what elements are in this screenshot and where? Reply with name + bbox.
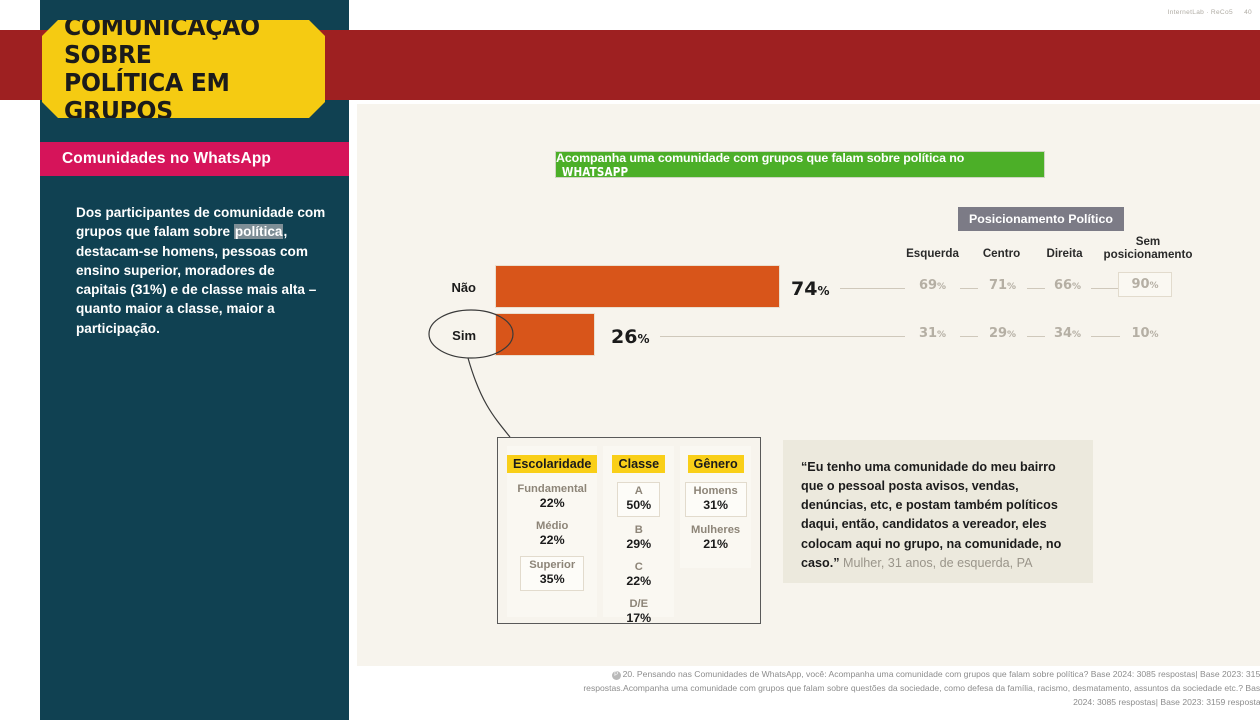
breakdown-nao-sem-posicionamento-value: 90 bbox=[1131, 277, 1149, 292]
demographics-item-classe-a-value: 50% bbox=[626, 498, 651, 514]
demographics-item-classe-c-value: 22% bbox=[626, 574, 651, 590]
sidebar-paragraph-before: Dos participantes de comunidade com grup… bbox=[76, 205, 325, 239]
bar-value-sim-number: 26 bbox=[611, 326, 637, 348]
connector-dash-nao-1 bbox=[840, 288, 905, 289]
breakdown-sim-direita: 34% bbox=[1040, 326, 1095, 341]
column-label-sem-posicionamento: Sem posicionamento bbox=[1094, 235, 1202, 262]
footnote-text: 20. Pensando nas Comunidades de WhatsApp… bbox=[583, 669, 1260, 707]
chart-title-emphasis: WHATSAPP bbox=[562, 165, 628, 179]
demographics-item-mulheres-name: Mulheres bbox=[691, 524, 740, 537]
demographics-item-medio: Médio 22% bbox=[530, 519, 574, 550]
demographics-item-medio-name: Médio bbox=[536, 520, 568, 533]
breakdown-nao-esquerda-value: 69 bbox=[919, 278, 937, 293]
page-title-line-1: COMUNICAÇÃO SOBRE bbox=[64, 13, 309, 69]
breakdown-sim-sem-posicionamento-unit: % bbox=[1150, 330, 1159, 340]
political-positioning-header: Posicionamento Político bbox=[958, 207, 1124, 231]
chart-title-main: Acompanha uma comunidade com grupos que … bbox=[556, 151, 964, 165]
demographics-item-medio-value: 22% bbox=[536, 533, 568, 549]
breakdown-sim-esquerda-value: 31 bbox=[919, 326, 937, 341]
political-positioning-label: Posicionamento Político bbox=[969, 212, 1113, 226]
connector-dash-nao-4 bbox=[1091, 288, 1120, 289]
demographics-item-classe-b: B 29% bbox=[620, 523, 657, 554]
page-header: InternetLab · ReCo5 40 bbox=[1167, 9, 1252, 16]
bar-value-sim: 26% bbox=[611, 326, 649, 348]
bar-value-nao-unit: % bbox=[817, 284, 829, 298]
page-title-line-2: POLÍTICA EM GRUPOS bbox=[64, 69, 309, 125]
demographics-title-classe: Classe bbox=[612, 455, 665, 473]
slide-title-flag: COMUNICAÇÃO SOBRE POLÍTICA EM GRUPOS bbox=[42, 20, 325, 118]
demographics-item-classe-de: D/E 17% bbox=[620, 597, 657, 628]
bar-label-sim: Sim bbox=[398, 328, 476, 343]
footnote: P20. Pensando nas Comunidades de WhatsAp… bbox=[565, 668, 1260, 710]
quote-paragraph: “Eu tenho uma comunidade do meu bairro q… bbox=[801, 458, 1073, 573]
connector-dash-sim-1 bbox=[660, 336, 905, 337]
bar-value-sim-unit: % bbox=[637, 332, 649, 346]
breakdown-nao-sem-posicionamento: 90% bbox=[1118, 272, 1172, 297]
breakdown-nao-centro-value: 71 bbox=[989, 278, 1007, 293]
quote-text: “Eu tenho uma comunidade do meu bairro q… bbox=[801, 460, 1061, 570]
page-source-label: InternetLab · ReCo5 bbox=[1167, 9, 1232, 16]
breakdown-nao-esquerda-unit: % bbox=[937, 282, 946, 292]
breakdown-nao-direita-value: 66 bbox=[1054, 278, 1072, 293]
sidebar-paragraph-after: , destacam-se homens, pessoas com ensino… bbox=[76, 224, 316, 335]
breakdown-nao-direita: 66% bbox=[1040, 278, 1095, 293]
quote-box: “Eu tenho uma comunidade do meu bairro q… bbox=[783, 440, 1093, 583]
slide-root: InternetLab · ReCo5 40 COMUNICAÇÃO SOBRE… bbox=[0, 0, 1260, 720]
breakdown-nao-sem-posicionamento-unit: % bbox=[1150, 281, 1159, 291]
section-subtitle-bar: Comunidades no WhatsApp bbox=[40, 142, 349, 176]
chart-title-text: Acompanha uma comunidade com grupos que … bbox=[556, 151, 1044, 179]
demographics-column-escolaridade: Escolaridade Fundamental 22% Médio 22% S… bbox=[507, 446, 597, 617]
column-label-esquerda: Esquerda bbox=[895, 247, 970, 260]
demographics-item-classe-b-value: 29% bbox=[626, 537, 651, 553]
quote-attribution: Mulher, 31 anos, de esquerda, PA bbox=[840, 556, 1033, 570]
demographics-item-superior-name: Superior bbox=[529, 559, 575, 572]
demographics-panel: Escolaridade Fundamental 22% Médio 22% S… bbox=[497, 437, 761, 624]
breakdown-sim-direita-value: 34 bbox=[1054, 326, 1072, 341]
breakdown-sim-sem-posicionamento-value: 10 bbox=[1131, 326, 1149, 341]
demographics-item-homens-value: 31% bbox=[694, 498, 738, 514]
bar-label-nao: Não bbox=[398, 280, 476, 295]
demographics-item-classe-de-name: D/E bbox=[626, 598, 651, 611]
demographics-item-classe-c-name: C bbox=[626, 561, 651, 574]
demographics-item-mulheres-value: 21% bbox=[691, 537, 740, 553]
demographics-item-classe-a: A 50% bbox=[617, 482, 660, 517]
sidebar-paragraph-highlight: política bbox=[234, 224, 284, 239]
demographics-item-fundamental-value: 22% bbox=[517, 496, 587, 512]
connector-dash-sim-4 bbox=[1091, 336, 1120, 337]
breakdown-sim-direita-unit: % bbox=[1072, 330, 1081, 340]
bar-value-nao: 74% bbox=[791, 278, 829, 300]
page-number: 40 bbox=[1244, 9, 1252, 16]
demographics-item-superior: Superior 35% bbox=[520, 556, 584, 591]
breakdown-nao-direita-unit: % bbox=[1072, 282, 1081, 292]
breakdown-sim-sem-posicionamento: 10% bbox=[1118, 326, 1172, 341]
column-label-centro: Centro bbox=[968, 247, 1035, 260]
demographics-column-classe: Classe A 50% B 29% C 22% D/E 17% bbox=[603, 446, 674, 617]
bar-nao bbox=[495, 265, 780, 308]
demographics-item-homens: Homens 31% bbox=[685, 482, 747, 517]
demographics-item-superior-value: 35% bbox=[529, 572, 575, 588]
breakdown-sim-centro: 29% bbox=[975, 326, 1030, 341]
breakdown-nao-centro: 71% bbox=[975, 278, 1030, 293]
demographics-item-homens-name: Homens bbox=[694, 485, 738, 498]
column-label-direita: Direita bbox=[1032, 247, 1097, 260]
bar-value-nao-number: 74 bbox=[791, 278, 817, 300]
demographics-item-classe-c: C 22% bbox=[620, 560, 657, 591]
footnote-marker-icon: P bbox=[612, 671, 621, 680]
demographics-item-fundamental-name: Fundamental bbox=[517, 483, 587, 496]
breakdown-sim-esquerda: 31% bbox=[905, 326, 960, 341]
section-subtitle-label: Comunidades no WhatsApp bbox=[62, 150, 271, 168]
demographics-title-genero: Gênero bbox=[688, 455, 744, 473]
demographics-item-classe-de-value: 17% bbox=[626, 611, 651, 627]
demographics-column-genero: Gênero Homens 31% Mulheres 21% bbox=[680, 446, 751, 568]
demographics-item-fundamental: Fundamental 22% bbox=[511, 482, 593, 513]
bar-sim bbox=[495, 313, 595, 356]
breakdown-sim-centro-unit: % bbox=[1007, 330, 1016, 340]
breakdown-sim-centro-value: 29 bbox=[989, 326, 1007, 341]
breakdown-sim-esquerda-unit: % bbox=[937, 330, 946, 340]
demographics-item-classe-b-name: B bbox=[626, 524, 651, 537]
demographics-title-escolaridade: Escolaridade bbox=[507, 455, 597, 473]
sidebar-summary-paragraph: Dos participantes de comunidade com grup… bbox=[76, 203, 328, 338]
demographics-item-mulheres: Mulheres 21% bbox=[685, 523, 746, 554]
chart-title-banner: Acompanha uma comunidade com grupos que … bbox=[555, 151, 1045, 178]
demographics-item-classe-a-name: A bbox=[626, 485, 651, 498]
breakdown-nao-centro-unit: % bbox=[1007, 282, 1016, 292]
breakdown-nao-esquerda: 69% bbox=[905, 278, 960, 293]
